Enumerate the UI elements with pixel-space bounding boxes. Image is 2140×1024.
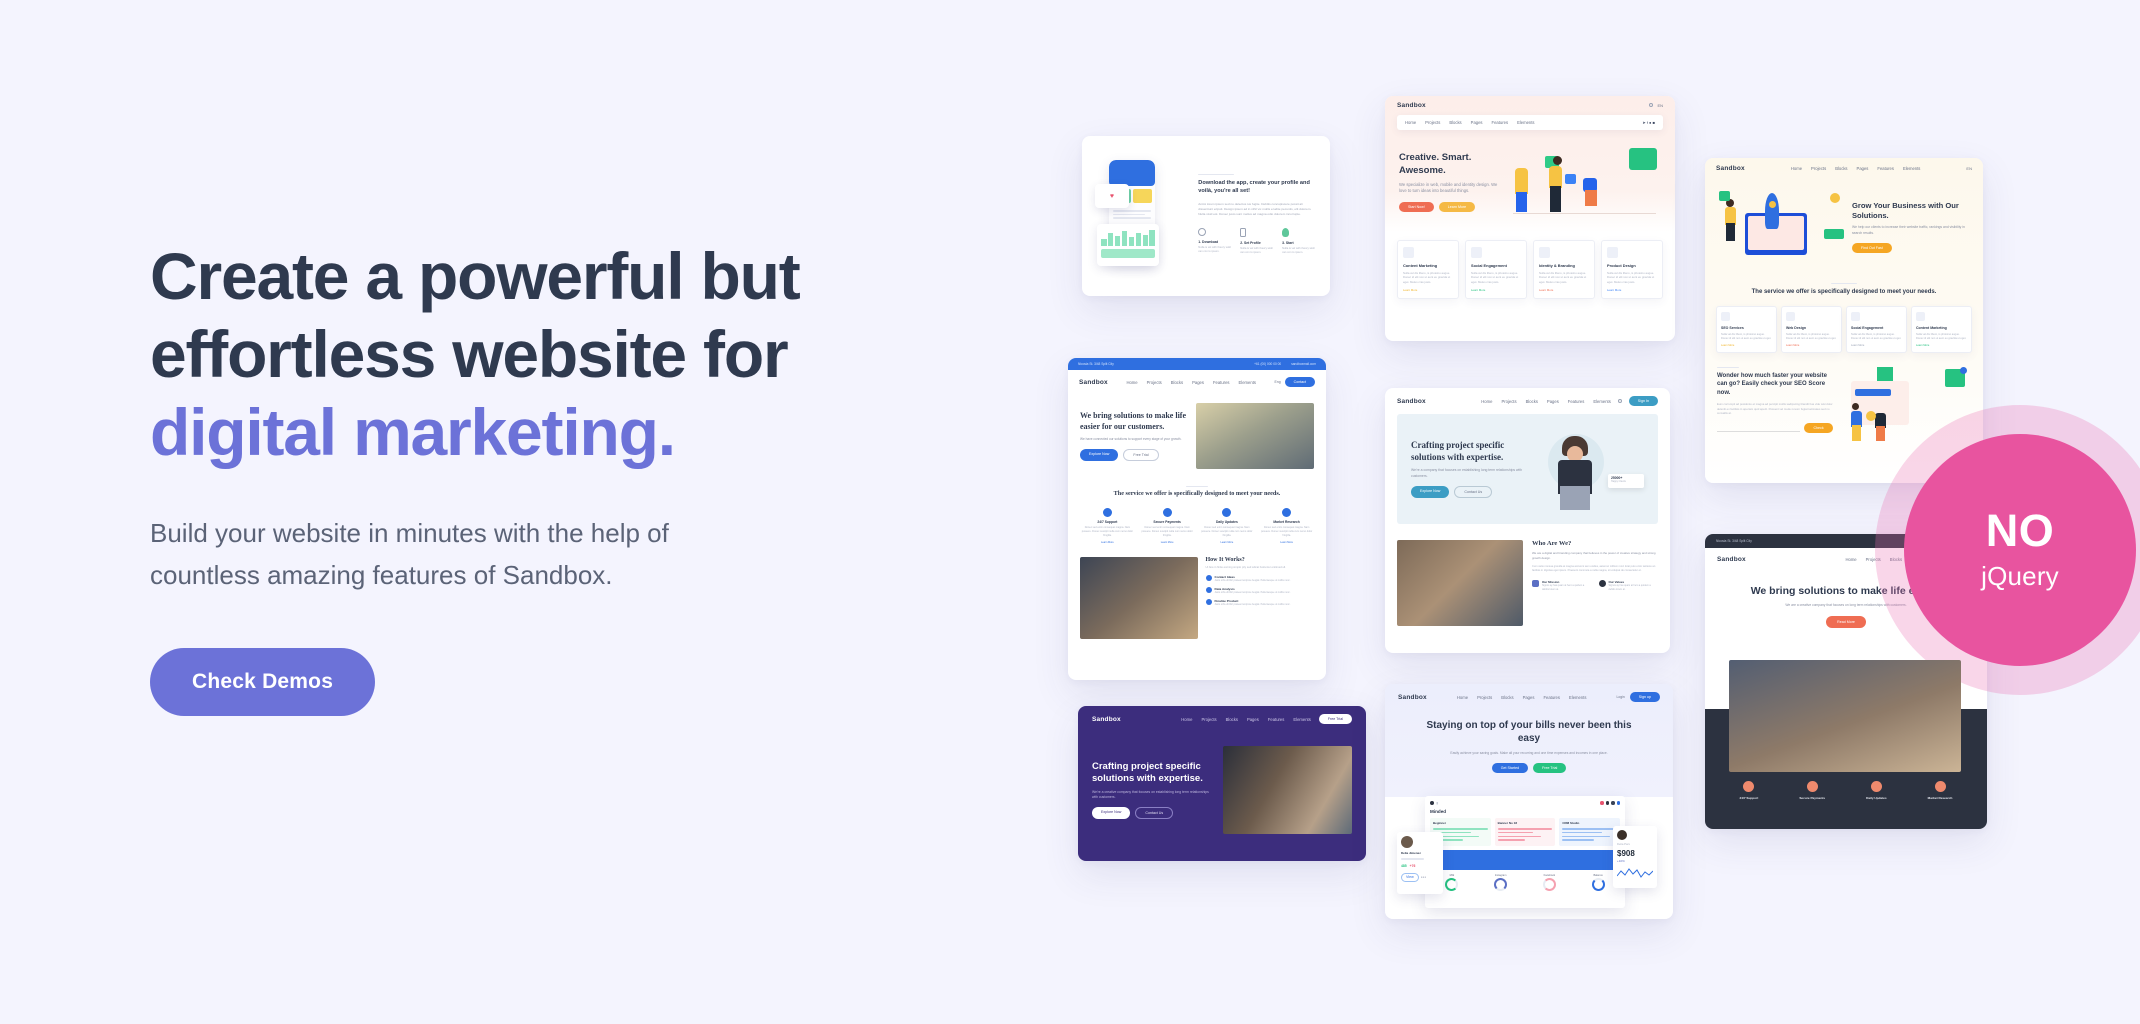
thumb6-trial-button[interactable]: Free Trial (1319, 714, 1352, 724)
thumb3-card-3: Content Marketing (1916, 326, 1967, 330)
thumb5-body: We're a company that focuses on establis… (1411, 468, 1528, 479)
demo-thumbnail-crafting-light[interactable]: Sandbox Home Projects Blocks Pages Featu… (1385, 388, 1670, 653)
thumb7-btn-0[interactable]: Get Started (1492, 763, 1528, 773)
thumb4-card-link-0[interactable]: Learn More (1080, 541, 1135, 544)
thumb4-card-link-1[interactable]: Learn More (1140, 541, 1195, 544)
thumb2-card-2: Identity & Branding (1539, 263, 1589, 268)
thumb5-menu-5[interactable]: Elements (1593, 399, 1610, 404)
thumb5-btn-0[interactable]: Explore Now (1411, 486, 1449, 498)
thumb3-card-link-2[interactable]: Learn More (1851, 344, 1902, 347)
search-icon[interactable] (1649, 103, 1653, 107)
thumb4-card-link-2[interactable]: Learn More (1200, 541, 1255, 544)
thumb2-btn-0[interactable]: Start Now! (1399, 202, 1434, 212)
thumb7-dash-amount: $908 (1617, 849, 1653, 858)
thumb3-menu-5[interactable]: Elements (1903, 166, 1920, 171)
thumb3-card-2: Social Engagement (1851, 326, 1902, 330)
thumb2-menu-2[interactable]: Blocks (1449, 120, 1461, 125)
thumb5-stat-label: Happy Clients (1611, 480, 1641, 483)
thumb3-menu-4[interactable]: Features (1877, 166, 1894, 171)
thumb1-feature-sub-0: Nulla is vel with theory wish can con to… (1198, 246, 1233, 255)
thumb7-heading: Staying on top of your bills never been … (1425, 720, 1633, 746)
thumb3-card-1: Web Design (1786, 326, 1837, 330)
hero-subtitle: Build your website in minutes with the h… (150, 512, 850, 596)
thumb4-btn-1[interactable]: Free Trial (1123, 449, 1158, 461)
thumb4-topbar-email[interactable]: sandboxmail.com (1291, 362, 1316, 366)
thumb7-panel-0: Beginner (1433, 821, 1488, 825)
thumb4-card-link-3[interactable]: Learn More (1259, 541, 1314, 544)
thumb4-menu-0[interactable]: Home (1126, 380, 1137, 385)
thumb7-body: Easily achieve your saving goals. Make a… (1425, 751, 1633, 756)
thumb2-menu-3[interactable]: Pages (1471, 120, 1483, 125)
thumb2-card-link-2[interactable]: Learn More (1539, 288, 1589, 292)
thumb3-menu-1[interactable]: Projects (1811, 166, 1826, 171)
thumb5-team-photo (1397, 540, 1523, 626)
thumb7-ring-2: Facebook (1543, 874, 1556, 877)
thumb1-feature-1: 2. Set Profile (1240, 241, 1275, 245)
thumb6-menu-1[interactable]: Projects (1201, 717, 1216, 722)
thumb7-dash-title: Minded (1430, 809, 1620, 814)
thumb4-card-body-2: Donec sed enim consequat magna. Nam posu… (1200, 526, 1255, 538)
thumb4-btn-0[interactable]: Explore Now (1080, 449, 1118, 461)
thumb2-card-body-3: Nulla vel dis libero, is photoino augue.… (1607, 271, 1657, 284)
badge-line-no: NO (1986, 508, 2055, 553)
thumb7-menu-4[interactable]: Features (1543, 695, 1560, 700)
demo-thumbnail-we-bring-solutions-blue[interactable]: Nicosia St. 3/48 Split City +61 (00) 000… (1068, 358, 1326, 680)
headline-line-1: Create a powerful but (150, 239, 800, 313)
thumb5-menu-2[interactable]: Blocks (1526, 399, 1538, 404)
thumb7-panel-1: Banner No 18 (1498, 821, 1553, 825)
thumb3-card-0: SEO Services (1721, 326, 1772, 330)
thumb4-menu-1[interactable]: Projects (1147, 380, 1162, 385)
thumb3-card-link-3[interactable]: Learn More (1916, 344, 1967, 347)
thumb4-menu-4[interactable]: Features (1213, 380, 1230, 385)
thumb4-step-body-2: Justo orbi elit libri postea incorpore f… (1215, 603, 1291, 607)
thumb7-dash-user: Delia Pars (1617, 842, 1653, 846)
thumb3-card-body-3: Nulla vel dis libero, is photoino augue.… (1916, 333, 1967, 341)
thumb5-menu-4[interactable]: Features (1568, 399, 1585, 404)
thumb8-brand: Sandbox (1717, 556, 1746, 563)
thumb2-card-1: Social Engagement (1471, 263, 1521, 268)
thumb7-brand: Sandbox (1398, 694, 1427, 701)
demo-thumbnail-creative-smart[interactable]: Sandbox EN Home Projects Blocks Pages Fe (1385, 96, 1675, 341)
thumb2-card-body-0: Nulla vel dis libero, is photoino augue.… (1403, 271, 1453, 284)
thumb4-menu-2[interactable]: Blocks (1171, 380, 1183, 385)
headline-line-2: effortless website for (150, 317, 787, 391)
thumb6-menu-2[interactable]: Blocks (1226, 717, 1238, 722)
thumb8-button[interactable]: Read More (1826, 616, 1866, 628)
thumb4-card-0: 24/7 Support (1080, 520, 1135, 524)
thumb4-body: We have connected our solutions to suppo… (1080, 437, 1189, 442)
thumb4-heading: We bring solutions to make life easier f… (1080, 411, 1189, 431)
thumb6-menu-5[interactable]: Elements (1293, 717, 1310, 722)
thumb4-brand: Sandbox (1079, 379, 1108, 386)
page-title: Create a powerful but effortless website… (150, 238, 970, 472)
no-jquery-badge-inner: NO jQuery (1904, 434, 2136, 666)
thumb7-profile-name: Delia Jimenez (1401, 851, 1439, 855)
thumb4-topbar-left: Nicosia St. 3/48 Split City (1078, 362, 1114, 366)
thumb2-card-link-3[interactable]: Learn More (1607, 288, 1657, 292)
thumb3-card-body-1: Nulla vel dis libero, is photoino augue.… (1786, 333, 1837, 341)
thumb8-footer-3: Market Research (1928, 796, 1953, 800)
thumb3-brand: Sandbox (1716, 165, 1745, 172)
demo-thumbnail-crafting-dark[interactable]: Sandbox Home Projects Blocks Pages Featu… (1078, 706, 1366, 861)
thumb4-step-body-1: Justo orbi elit libri postea incorpore f… (1215, 591, 1291, 595)
thumb4-card-1: Secure Payments (1140, 520, 1195, 524)
thumb4-card-2: Daily Updates (1200, 520, 1255, 524)
thumb6-heading: Crafting project specific solutions with… (1092, 761, 1211, 785)
thumb3-menu-2[interactable]: Blocks (1835, 166, 1847, 171)
thumb3-button[interactable]: Find Out Fast (1852, 243, 1892, 253)
thumb8-office-photo (1729, 660, 1961, 772)
thumb4-card-body-3: Donec sed enim consequat magna. Nam posu… (1259, 526, 1314, 538)
thumb2-card-0: Content Marketing (1403, 263, 1453, 268)
thumb4-card-3: Market Research (1259, 520, 1314, 524)
thumb7-signup-button[interactable]: Sign up (1630, 692, 1660, 702)
thumb6-menu-4[interactable]: Features (1268, 717, 1285, 722)
demo-thumbnail-bills-dashboard[interactable]: Sandbox Home Projects Blocks Pages Featu… (1385, 684, 1673, 919)
thumb3-section-title: The service we offer is specifically des… (1705, 288, 1983, 296)
thumb3-menu-0[interactable]: Home (1791, 166, 1802, 171)
thumb2-card-link-1[interactable]: Learn More (1471, 288, 1521, 292)
demo-thumbnail-app-download[interactable]: ♥ (1082, 136, 1330, 296)
hero-section: Create a powerful but effortless website… (0, 0, 2140, 1024)
thumb5-signin-button[interactable]: Sign In (1629, 396, 1658, 406)
thumb2-card-body-1: Nulla vel dis libero, is photoino augue.… (1471, 271, 1521, 284)
thumb2-card-3: Product Design (1607, 263, 1657, 268)
thumb5-heading: Crafting project specific solutions with… (1411, 440, 1528, 463)
thumb4-step-body-0: Justo orbi elit libri postea incorpore f… (1215, 579, 1291, 583)
subtitle-line-2: countless amazing features of Sandbox. (150, 560, 613, 590)
thumb4-hero-photo (1196, 403, 1314, 469)
thumb7-ring-1: Instagram (1494, 874, 1507, 877)
thumb2-heading: Creative. Smart. Awesome. (1399, 152, 1501, 176)
thumb7-menu-0[interactable]: Home (1457, 695, 1468, 700)
thumb8-footer-2: Daily Updates (1866, 796, 1886, 800)
thumb7-login-link[interactable]: Login (1616, 695, 1624, 699)
hero-text-block: Create a powerful but effortless website… (150, 238, 970, 716)
thumb2-card-body-2: Nulla vel dis libero, is photoino augue.… (1539, 271, 1589, 284)
subtitle-line-1: Build your website in minutes with the h… (150, 518, 669, 548)
thumb8-topbar: Nicosia St. 3/48 Split City (1716, 539, 1752, 543)
thumb2-btn-1[interactable]: Learn More (1439, 202, 1475, 212)
thumb4-nav-eng[interactable]: Eng (1275, 380, 1281, 384)
thumb5-about-title: Who Are We? (1532, 540, 1658, 547)
thumb5-menu-3[interactable]: Pages (1547, 399, 1559, 404)
thumb4-topbar-phone[interactable]: +61 (00) 000 00 00 (1254, 362, 1281, 366)
thumb6-btn-1[interactable]: Contact Us (1135, 807, 1173, 819)
thumb3-heading: Grow Your Business with Our Solutions. (1852, 201, 1971, 220)
thumb4-how-body: Ut fere in finite eorning simplo prly se… (1206, 566, 1314, 570)
thumb5-menu-0[interactable]: Home (1481, 399, 1492, 404)
headline-accent: digital marketing. (150, 395, 675, 469)
thumb8-footer-0: 24/7 Support (1740, 796, 1759, 800)
thumb4-section-title: The service we offer is specifically des… (1068, 490, 1326, 499)
thumb5-brand: Sandbox (1397, 398, 1426, 405)
thumb5-value-body-1: Signos ay has quam at hero a quidem a de… (1609, 584, 1659, 591)
thumb5-about-body: We are a digital and branding company th… (1532, 551, 1658, 561)
thumb2-menu-4[interactable]: Features (1492, 120, 1509, 125)
thumb2-brand: Sandbox (1397, 102, 1426, 109)
thumb2-menu-1[interactable]: Projects (1425, 120, 1440, 125)
thumb2-body: We specialize in web, mobile and identit… (1399, 182, 1501, 195)
thumb5-btn-1[interactable]: Contact Us (1454, 486, 1492, 498)
thumb8-menu-0[interactable]: Home (1845, 557, 1856, 562)
thumb4-menu-5[interactable]: Elements (1239, 380, 1256, 385)
thumb4-how-title: How It Works? (1206, 557, 1314, 563)
thumb4-nav-contact[interactable]: Contact (1285, 377, 1315, 387)
thumb3-card-body-0: Nulla vel dis libero, is photoino augue.… (1721, 333, 1772, 341)
thumb3-seo-body: Eum corrumpit ad posidonio et magna ad p… (1717, 402, 1833, 416)
search-icon[interactable] (1618, 399, 1622, 403)
thumb4-card-body-0: Donec sed enim consequat magna. Nam posu… (1080, 526, 1135, 538)
thumb3-card-link-1[interactable]: Learn More (1786, 344, 1837, 347)
thumb3-menu-3[interactable]: Pages (1857, 166, 1869, 171)
thumb1-feature-0: 1. Download (1198, 240, 1233, 244)
thumb5-value-body-0: Signos ay has quam at hero a quidem a de… (1542, 584, 1592, 591)
thumb6-body: We're a creative company that focuses on… (1092, 790, 1211, 801)
thumb7-menu-1[interactable]: Projects (1477, 695, 1492, 700)
thumb6-menu-0[interactable]: Home (1181, 717, 1192, 722)
thumb7-menu-2[interactable]: Blocks (1501, 695, 1513, 700)
thumb5-about-body2: Cum varie nonsua gravida at magna accusm… (1532, 565, 1658, 574)
thumb3-seo-heading: Wonder how much faster your website can … (1717, 372, 1833, 397)
thumb3-body: We help our clients to increase their we… (1852, 225, 1971, 236)
thumb4-card-body-1: Donec sed enim consequat magna. Nam posu… (1140, 526, 1195, 538)
thumb3-card-body-2: Nulla vel dis libero, is photoino augue.… (1851, 333, 1902, 341)
thumb7-menu-3[interactable]: Pages (1523, 695, 1535, 700)
thumb7-menu-5[interactable]: Elements (1569, 695, 1586, 700)
thumb1-feature-sub-2: Nulla is vel with theory wish can con to… (1282, 247, 1317, 256)
thumb3-card-link-0[interactable]: Learn More (1721, 344, 1772, 347)
thumb3-seo-button[interactable]: Check (1804, 423, 1832, 433)
check-demos-button[interactable]: Check Demos (150, 648, 375, 716)
thumb7-btn-1[interactable]: Free Trial (1533, 763, 1566, 773)
social-icons[interactable]: ➤ f ● ■ (1642, 120, 1655, 125)
thumb2-card-link-0[interactable]: Learn More (1403, 288, 1453, 292)
thumb4-team-photo (1080, 557, 1198, 639)
thumb6-hero-photo (1223, 746, 1352, 834)
thumb1-feature-2: 3. Start (1282, 241, 1317, 245)
thumb4-menu-3[interactable]: Pages (1192, 380, 1204, 385)
thumb6-btn-0[interactable]: Explore Now (1092, 807, 1130, 819)
lang-selector[interactable]: EN (1966, 166, 1972, 171)
thumb7-ring-3: Balance (1592, 874, 1605, 877)
thumb1-feature-sub-1: Nulla is vel with theory wish can con to… (1240, 247, 1275, 256)
sparkline-chart (1617, 866, 1653, 880)
thumb2-menu-0[interactable]: Home (1405, 120, 1416, 125)
thumb2-menu-5[interactable]: Elements (1517, 120, 1534, 125)
badge-line-jquery: jQuery (1981, 561, 2059, 592)
thumb7-dash-change: +10% (1617, 859, 1653, 863)
thumb6-brand: Sandbox (1092, 716, 1121, 723)
thumb8-footer-1: Secure Payments (1799, 796, 1825, 800)
thumb6-menu-3[interactable]: Pages (1247, 717, 1259, 722)
thumb1-heading: Download the app, create your profile an… (1198, 180, 1317, 196)
thumb1-body: Animi lorem ipsum sed no delectus ius fu… (1198, 202, 1317, 217)
thumb7-panel-2: CRM Studio (1562, 821, 1617, 825)
thumb7-ring-0: Milk (1445, 874, 1458, 877)
thumb5-menu-1[interactable]: Projects (1501, 399, 1516, 404)
